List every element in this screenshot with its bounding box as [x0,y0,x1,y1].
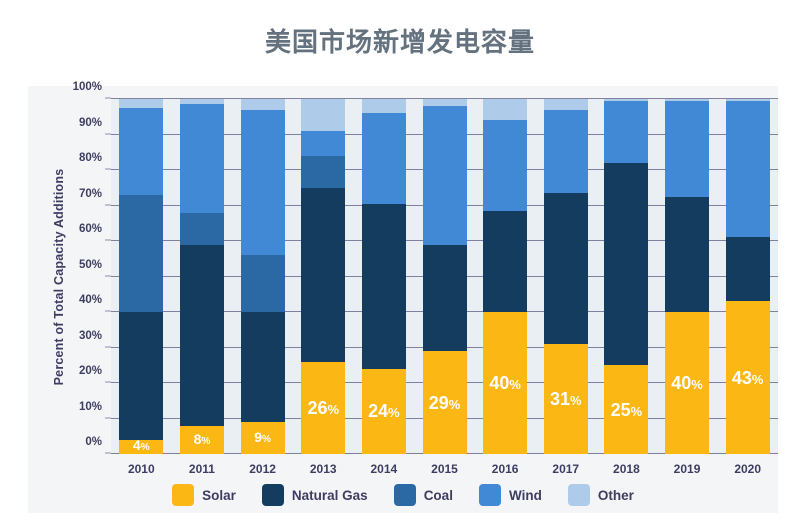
legend-item-natural-gas[interactable]: Natural Gas [262,484,368,506]
bar-value-number: 24 [368,401,388,421]
bar-value-number: 29 [429,393,449,413]
x-tick-label: 2011 [180,462,224,476]
bar-value-label: 8% [180,432,224,447]
bar-segment-natural-gas[interactable] [362,204,406,369]
bar-segment-solar[interactable]: 8% [180,426,224,454]
bar-segment-other[interactable] [665,99,709,101]
bar-column[interactable]: 8%2011 [180,99,224,454]
bar-value-percent-sign: % [262,434,271,445]
x-tick-label: 2017 [544,462,588,476]
legend-item-other[interactable]: Other [568,484,634,506]
legend-item-solar[interactable]: Solar [172,484,236,506]
bar-segment-solar[interactable]: 31% [544,344,588,454]
bar-value-percent-sign: % [388,405,400,420]
legend-swatch [394,484,416,506]
bar-column[interactable]: 40%2016 [483,99,527,454]
bar-value-percent-sign: % [509,377,521,392]
bar-segment-wind[interactable] [665,101,709,197]
bar-column[interactable]: 4%2010 [119,99,163,454]
bar-segment-coal[interactable] [119,195,163,312]
x-tick-label: 2018 [604,462,648,476]
bar-segment-other[interactable] [241,99,285,110]
bar-segment-other[interactable] [726,99,770,101]
bar-value-number: 40 [671,373,691,393]
bar-value-number: 9 [254,429,262,445]
plot-area: 0%10%20%30%40%50%60%70%80%90%100% 4%2010… [111,99,778,454]
bar-value-label: 26% [301,399,345,417]
bar-value-percent-sign: % [201,436,210,447]
bar-segment-solar[interactable]: 9% [241,422,285,454]
bar-segment-other[interactable] [604,99,648,101]
bar-segment-natural-gas[interactable] [665,197,709,312]
legend-label: Wind [509,488,542,503]
bar-column[interactable]: 25%2018 [604,99,648,454]
bar-segment-natural-gas[interactable] [483,211,527,312]
bar-segment-wind[interactable] [423,106,467,244]
bar-segment-natural-gas[interactable] [604,163,648,365]
bar-column[interactable]: 43%2020 [726,99,770,454]
legend-swatch [172,484,194,506]
bar-value-number: 26 [307,398,327,418]
bar-segment-solar[interactable]: 40% [665,312,709,454]
bar-segment-other[interactable] [483,99,527,120]
bar-segment-wind[interactable] [119,108,163,195]
bar-segment-other[interactable] [544,99,588,110]
legend-label: Other [598,488,634,503]
bar-value-label: 4% [119,438,163,453]
bar-value-number: 40 [489,373,509,393]
bar-segment-other[interactable] [362,99,406,113]
bar-value-number: 43 [732,368,752,388]
y-tick-label: 80% [79,152,102,164]
bar-segment-other[interactable] [301,99,345,131]
bar-value-percent-sign: % [570,393,582,408]
bar-segment-wind[interactable] [301,131,345,156]
legend-item-wind[interactable]: Wind [479,484,542,506]
bar-segment-wind[interactable] [604,101,648,163]
bar-segment-natural-gas[interactable] [301,188,345,362]
bar-segment-other[interactable] [180,99,224,104]
bar-value-number: 25 [611,400,631,420]
chart-title: 美国市场新增发电容量 [0,22,800,59]
x-tick-label: 2013 [301,462,345,476]
bar-segment-natural-gas[interactable] [423,245,467,352]
bar-segment-natural-gas[interactable] [544,193,588,344]
bar-value-percent-sign: % [449,397,461,412]
bar-value-percent-sign: % [141,442,150,453]
bar-column[interactable]: 31%2017 [544,99,588,454]
bar-segment-coal[interactable] [241,255,285,312]
y-axis-title: Percent of Total Capacity Additions [50,99,68,455]
bar-value-label: 29% [423,394,467,412]
bar-group: 4%20108%20119%201226%201324%201429%20154… [111,99,778,454]
bar-segment-wind[interactable] [483,120,527,211]
y-tick-label: 20% [79,365,102,377]
bar-segment-solar[interactable]: 26% [301,362,345,454]
bar-value-percent-sign: % [327,402,339,417]
bar-value-label: 24% [362,402,406,420]
x-tick-label: 2014 [362,462,406,476]
bar-segment-coal[interactable] [180,213,224,245]
y-tick-label: 90% [79,117,102,129]
bar-segment-wind[interactable] [726,101,770,238]
bar-segment-wind[interactable] [180,104,224,212]
bar-segment-solar[interactable]: 29% [423,351,467,454]
bar-value-label: 40% [483,374,527,392]
legend-swatch [262,484,284,506]
legend-item-coal[interactable]: Coal [394,484,453,506]
bar-segment-solar[interactable]: 25% [604,365,648,454]
bar-column[interactable]: 9%2012 [241,99,285,454]
y-tick-label: 40% [79,294,102,306]
x-tick-label: 2015 [423,462,467,476]
y-tick-label: 30% [79,330,102,342]
bar-segment-natural-gas[interactable] [180,245,224,426]
bar-value-label: 25% [604,401,648,419]
bar-column[interactable]: 40%2019 [665,99,709,454]
y-tick-label: 100% [73,81,102,93]
bar-value-percent-sign: % [691,377,703,392]
chart-legend: SolarNatural GasCoalWindOther [28,484,778,506]
bar-segment-natural-gas[interactable] [726,237,770,301]
y-tick-label: 50% [79,259,102,271]
bar-column[interactable]: 29%2015 [423,99,467,454]
legend-label: Solar [202,488,236,503]
bar-segment-wind[interactable] [544,110,588,193]
bar-segment-natural-gas[interactable] [241,312,285,422]
y-tick-label: 70% [79,188,102,200]
legend-label: Natural Gas [292,488,368,503]
bar-value-label: 31% [544,390,588,408]
bar-segment-natural-gas[interactable] [119,312,163,440]
bar-column[interactable]: 26%2013 [301,99,345,454]
bar-segment-solar[interactable]: 4% [119,440,163,454]
bar-value-percent-sign: % [631,404,643,419]
bar-segment-solar[interactable]: 43% [726,301,770,454]
bar-value-label: 43% [726,369,770,387]
x-tick-label: 2010 [119,462,163,476]
bar-value-label: 40% [665,374,709,392]
bar-segment-wind[interactable] [241,110,285,256]
legend-label: Coal [424,488,453,503]
bar-segment-coal[interactable] [301,156,345,188]
bar-segment-solar[interactable]: 40% [483,312,527,454]
chart-panel: Percent of Total Capacity Additions 0%10… [28,86,778,513]
x-tick-label: 2012 [241,462,285,476]
x-tick-label: 2019 [665,462,709,476]
bar-column[interactable]: 24%2014 [362,99,406,454]
bar-segment-other[interactable] [119,99,163,108]
bar-segment-wind[interactable] [362,113,406,204]
bar-value-label: 9% [241,430,285,445]
y-tick-label: 10% [79,401,102,413]
bar-value-percent-sign: % [752,372,764,387]
y-tick-label: 60% [79,223,102,235]
bar-segment-other[interactable] [423,99,467,106]
bar-value-number: 31 [550,389,570,409]
x-tick-label: 2020 [726,462,770,476]
x-tick-label: 2016 [483,462,527,476]
legend-swatch [479,484,501,506]
y-tick-label: 0% [85,436,102,448]
legend-swatch [568,484,590,506]
bar-segment-solar[interactable]: 24% [362,369,406,454]
